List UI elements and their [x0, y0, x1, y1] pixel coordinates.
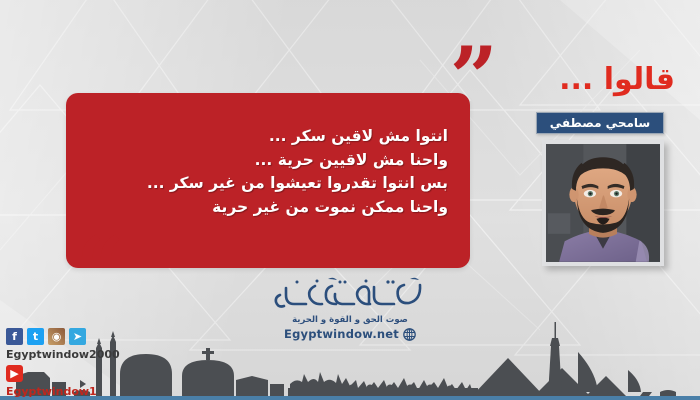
social-handle-primary: Egyptwindow2000	[6, 348, 120, 361]
quote-card: قالوا ... ” انتوا مش لاقين سكر ... واحنا…	[0, 0, 700, 400]
speaker-nameplate: سامحي مصطفي	[536, 112, 664, 134]
twitter-icon[interactable]: t	[27, 328, 44, 345]
quote-mark-close-icon: “	[76, 238, 124, 298]
logo-url-row: Egyptwindow.net	[235, 327, 465, 341]
speaker-block: سامحي مصطفي	[536, 112, 664, 266]
social-row-youtube: ▶	[6, 365, 120, 382]
social-handle-youtube: Egyptwindow1	[6, 385, 120, 398]
quote-mark-open-icon: ”	[450, 48, 498, 108]
quote-line: واحنا مش لاقيين حرية ...	[82, 149, 448, 173]
social-row-primary: f t ◉ ➤	[6, 328, 120, 345]
youtube-icon[interactable]: ▶	[6, 365, 23, 382]
avatar	[546, 144, 660, 262]
logo-wordmark	[270, 276, 430, 314]
telegram-icon[interactable]: ➤	[69, 328, 86, 345]
logo-tagline: صوت الحق و القوة و الحرية	[235, 315, 465, 325]
page-title: قالوا ...	[559, 62, 675, 97]
quote-line: انتوا مش لاقين سكر ...	[82, 125, 448, 149]
quote-panel: انتوا مش لاقين سكر ... واحنا مش لاقيين ح…	[66, 93, 470, 268]
quote-line: واحنا ممكن نموت من غير حرية	[82, 196, 448, 220]
globe-icon	[403, 328, 416, 341]
site-logo: صوت الحق و القوة و الحرية Egyptwindow.ne…	[235, 276, 465, 341]
logo-url[interactable]: Egyptwindow.net	[284, 327, 399, 341]
facebook-icon[interactable]: f	[6, 328, 23, 345]
speaker-name: سامحي مصطفي	[550, 116, 650, 130]
quote-text: انتوا مش لاقين سكر ... واحنا مش لاقيين ح…	[82, 125, 448, 219]
social-links: f t ◉ ➤ Egyptwindow2000 ▶ Egyptwindow1	[6, 328, 120, 398]
quote-line: بس انتوا تقدروا تعيشوا من غير سكر ...	[82, 172, 448, 196]
instagram-icon[interactable]: ◉	[48, 328, 65, 345]
speaker-photo-frame	[542, 140, 664, 266]
